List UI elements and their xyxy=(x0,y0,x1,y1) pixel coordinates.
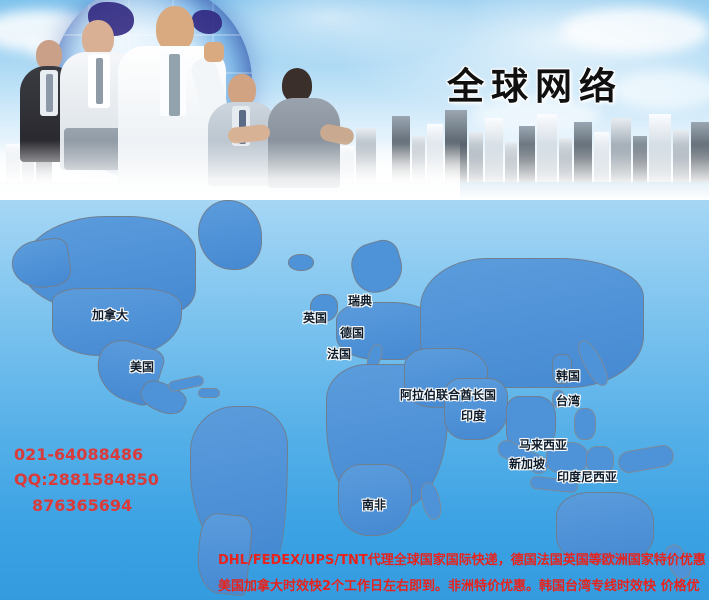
map-label-uae: 阿拉伯联合酋长国 xyxy=(400,386,496,403)
contact-qq-primary: QQ:2881584850 xyxy=(14,470,159,489)
cloud-icon xyxy=(610,70,709,110)
island-philippines xyxy=(574,408,596,440)
header-banner: 全球网络 xyxy=(0,0,709,200)
map-label-sweden: 瑞典 xyxy=(348,292,372,309)
cloud-icon xyxy=(560,8,709,54)
map-label-south-africa: 南非 xyxy=(362,496,386,513)
map-label-taiwan: 台湾 xyxy=(556,392,580,409)
promo-line-2: 美国加拿大时效快2个工作日左右即到。非洲特价优惠。韩国台湾专线时效快 价格优 xyxy=(218,575,700,594)
contact-qq-secondary: 876365694 xyxy=(32,496,132,515)
map-label-germany: 德国 xyxy=(340,324,364,341)
map-label-usa: 美国 xyxy=(130,358,154,375)
map-label-singapore: 新加坡 xyxy=(509,455,545,472)
map-label-indonesia: 印度尼西亚 xyxy=(557,468,617,485)
promo-line-1: DHL/FEDEX/UPS/TNT代理全球国家国际快递，德国法国英国等欧洲国家特… xyxy=(218,549,706,568)
map-label-india: 印度 xyxy=(461,407,485,424)
map-label-canada: 加拿大 xyxy=(92,306,128,323)
island-madagascar xyxy=(418,480,445,521)
island-hispaniola xyxy=(198,388,220,398)
landmass-iceland xyxy=(288,254,314,271)
map-label-korea: 韩国 xyxy=(556,367,580,384)
contact-phone: 021-64088486 xyxy=(14,445,143,464)
map-label-malaysia: 马来西亚 xyxy=(519,436,567,453)
people-fade xyxy=(0,140,460,200)
map-label-uk: 英国 xyxy=(303,309,327,326)
map-label-france: 法国 xyxy=(327,345,351,362)
banner-title: 全球网络 xyxy=(447,56,623,110)
landmass-scandinavia xyxy=(346,236,408,298)
landmass-greenland xyxy=(198,200,262,270)
island-new-guinea xyxy=(617,443,676,474)
page-root: 全球网络 xyxy=(0,0,709,600)
